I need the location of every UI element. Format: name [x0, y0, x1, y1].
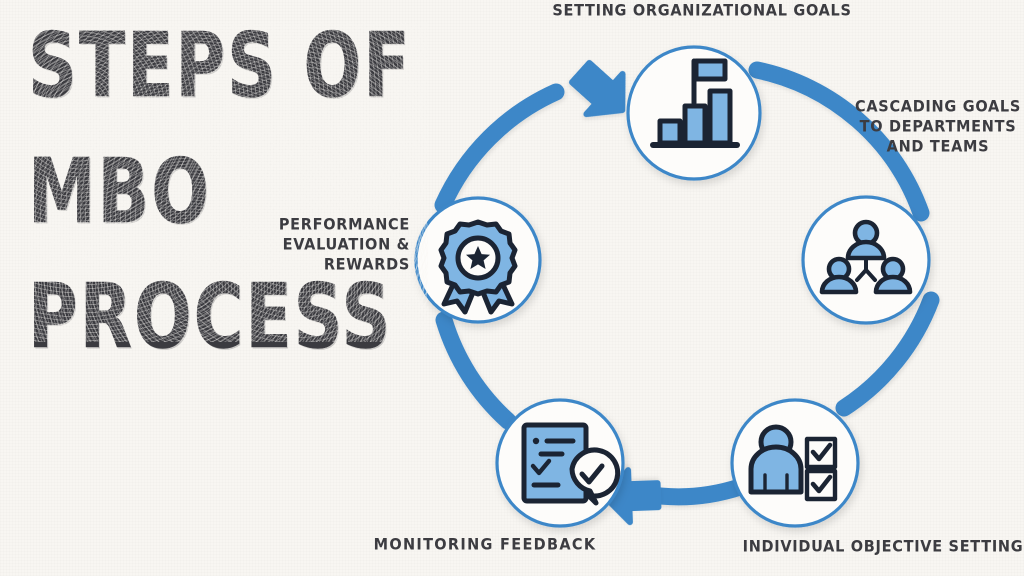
label-performance-evaluation-rewards: PERFORMANCE EVALUATION & REWARDS — [262, 215, 410, 276]
node-setting-organizational-goals[interactable] — [628, 47, 760, 179]
label-setting-organizational-goals: SETTING ORGANIZATIONAL GOALS — [552, 1, 852, 21]
title-line-1: STEPS OF — [28, 22, 416, 110]
label-individual-objective-setting: INDIVIDUAL OBJECTIVE SETTING — [742, 537, 1024, 557]
connector-performance-to-goals — [443, 92, 556, 205]
title-line-3: PROCESS — [28, 273, 416, 361]
label-monitoring-feedback: MONITORING FEEDBACK — [358, 535, 612, 555]
node-performance-evaluation-rewards[interactable] — [416, 198, 540, 322]
node-individual-objective-setting[interactable] — [732, 400, 858, 526]
node-cascading-goals[interactable] — [803, 197, 929, 323]
infographic-canvas: STEPS OF MBO PROCESS — [0, 0, 1024, 576]
label-cascading-goals: CASCADING GOALS TO DEPARTMENTS AND TEAMS — [852, 97, 1024, 158]
connector-monitoring-to-performance — [444, 320, 508, 421]
node-monitoring-feedback[interactable] — [497, 400, 623, 526]
page-title: STEPS OF MBO PROCESS — [28, 22, 428, 342]
